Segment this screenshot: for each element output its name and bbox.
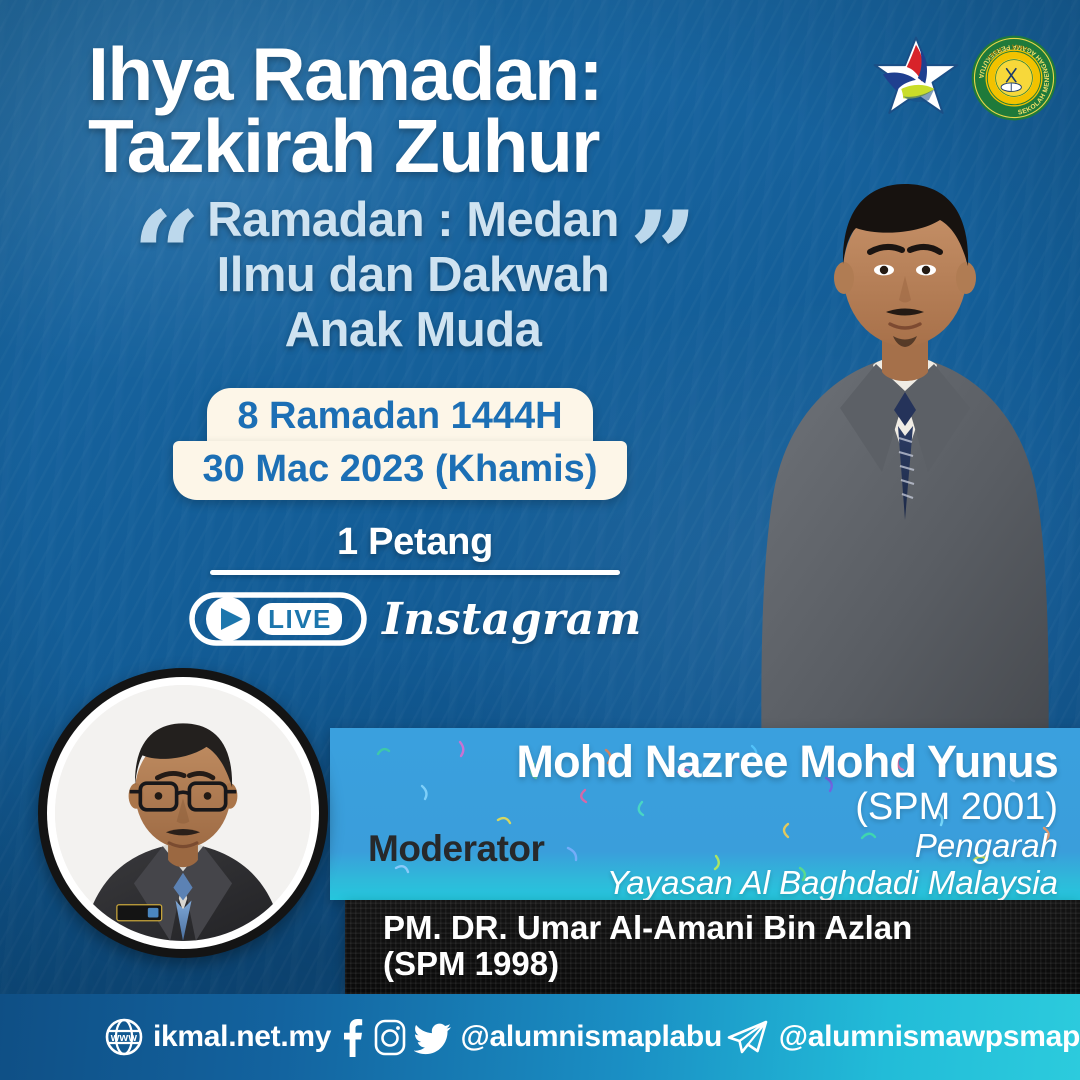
moderator-portrait	[55, 685, 311, 941]
twitter-icon[interactable]	[414, 1017, 452, 1057]
time-block: 1 Petang LIVE Instagram	[0, 521, 830, 649]
quote-close-icon: ”	[629, 196, 698, 354]
subtitle-lines: Ramadan : Medan Ilmu dan Dakwah Anak Mud…	[207, 193, 619, 358]
speaker-role: Pengarah	[516, 828, 1058, 865]
poster-canvas: SEKOLAH MENENGAH AGAMA PERSEKUTUAN 1962 …	[0, 0, 1080, 1080]
date-block: 8 Ramadan 1444H 30 Mac 2023 (Khamis)	[0, 388, 800, 500]
telegram-item[interactable]: @alumnismawpsmap	[724, 1017, 1080, 1057]
live-badge-label: LIVE	[268, 604, 332, 634]
moderator-label: Moderator	[368, 828, 544, 870]
instagram-icon[interactable]	[373, 1017, 407, 1057]
speaker-cohort: (SPM 2001)	[516, 786, 1058, 829]
headline-line-1: Ihya Ramadan:	[88, 38, 602, 110]
subtitle-line-2: Ilmu dan Dakwah	[207, 248, 619, 303]
svg-text:www: www	[110, 1032, 138, 1044]
moderator-name: PM. DR. Umar Al-Amani Bin Azlan	[383, 908, 912, 948]
hijri-date-pill: 8 Ramadan 1444H	[207, 388, 592, 447]
speaker-info: Mohd Nazree Mohd Yunus (SPM 2001) Pengar…	[516, 738, 1058, 900]
speaker-name: Mohd Nazree Mohd Yunus	[516, 738, 1058, 786]
telegram-handle-label: @alumnismawpsmap	[779, 1020, 1080, 1054]
platform-label: Instagram	[382, 594, 642, 645]
footer-bar: www ikmal.net.my @alumnismaplabu	[0, 994, 1080, 1080]
subtitle-line-1: Ramadan : Medan	[207, 193, 619, 248]
moderator-photo	[55, 685, 311, 941]
logo-group: SEKOLAH MENENGAH AGAMA PERSEKUTUAN 1962 …	[870, 32, 1060, 124]
subtitle-line-3: Anak Muda	[207, 303, 619, 358]
social-handle-label: @alumnismaplabu	[461, 1020, 722, 1054]
speaker-banner: Mohd Nazree Mohd Yunus (SPM 2001) Pengar…	[330, 728, 1080, 900]
moderator-cohort: (SPM 1998)	[383, 944, 559, 984]
ikmal-star-logo	[870, 32, 962, 124]
social-icon-group	[336, 1017, 452, 1057]
time-label: 1 Petang	[337, 521, 493, 564]
gregorian-date-pill: 30 Mac 2023 (Khamis)	[173, 441, 628, 500]
moderator-photo-ring	[47, 677, 319, 949]
moderator-photo-frame	[38, 668, 328, 958]
quote-open-icon: “	[132, 196, 201, 354]
speaker-organisation: Yayasan Al Baghdadi Malaysia	[516, 865, 1058, 900]
divider-rule	[210, 570, 620, 575]
telegram-icon	[724, 1017, 770, 1057]
live-broadcast-row: LIVE Instagram	[188, 589, 642, 649]
subtitle-block: “ Ramadan : Medan Ilmu dan Dakwah Anak M…	[20, 193, 810, 358]
website-label: ikmal.net.my	[153, 1020, 331, 1054]
poster-headline: Ihya Ramadan: Tazkirah Zuhur	[88, 38, 602, 182]
social-item[interactable]: @alumnismaplabu	[336, 1017, 722, 1057]
globe-www-icon: www	[104, 1017, 144, 1057]
facebook-icon[interactable]	[336, 1017, 366, 1057]
moderator-strip: PM. DR. Umar Al-Amani Bin Azlan (SPM 199…	[345, 900, 1080, 994]
sekolah-menengah-agama-persekutuan-crest: SEKOLAH MENENGAH AGAMA PERSEKUTUAN 1962 …	[968, 32, 1060, 124]
website-item[interactable]: www ikmal.net.my	[104, 1017, 331, 1057]
live-badge-icon: LIVE	[188, 589, 368, 649]
headline-line-2: Tazkirah Zuhur	[88, 110, 602, 182]
